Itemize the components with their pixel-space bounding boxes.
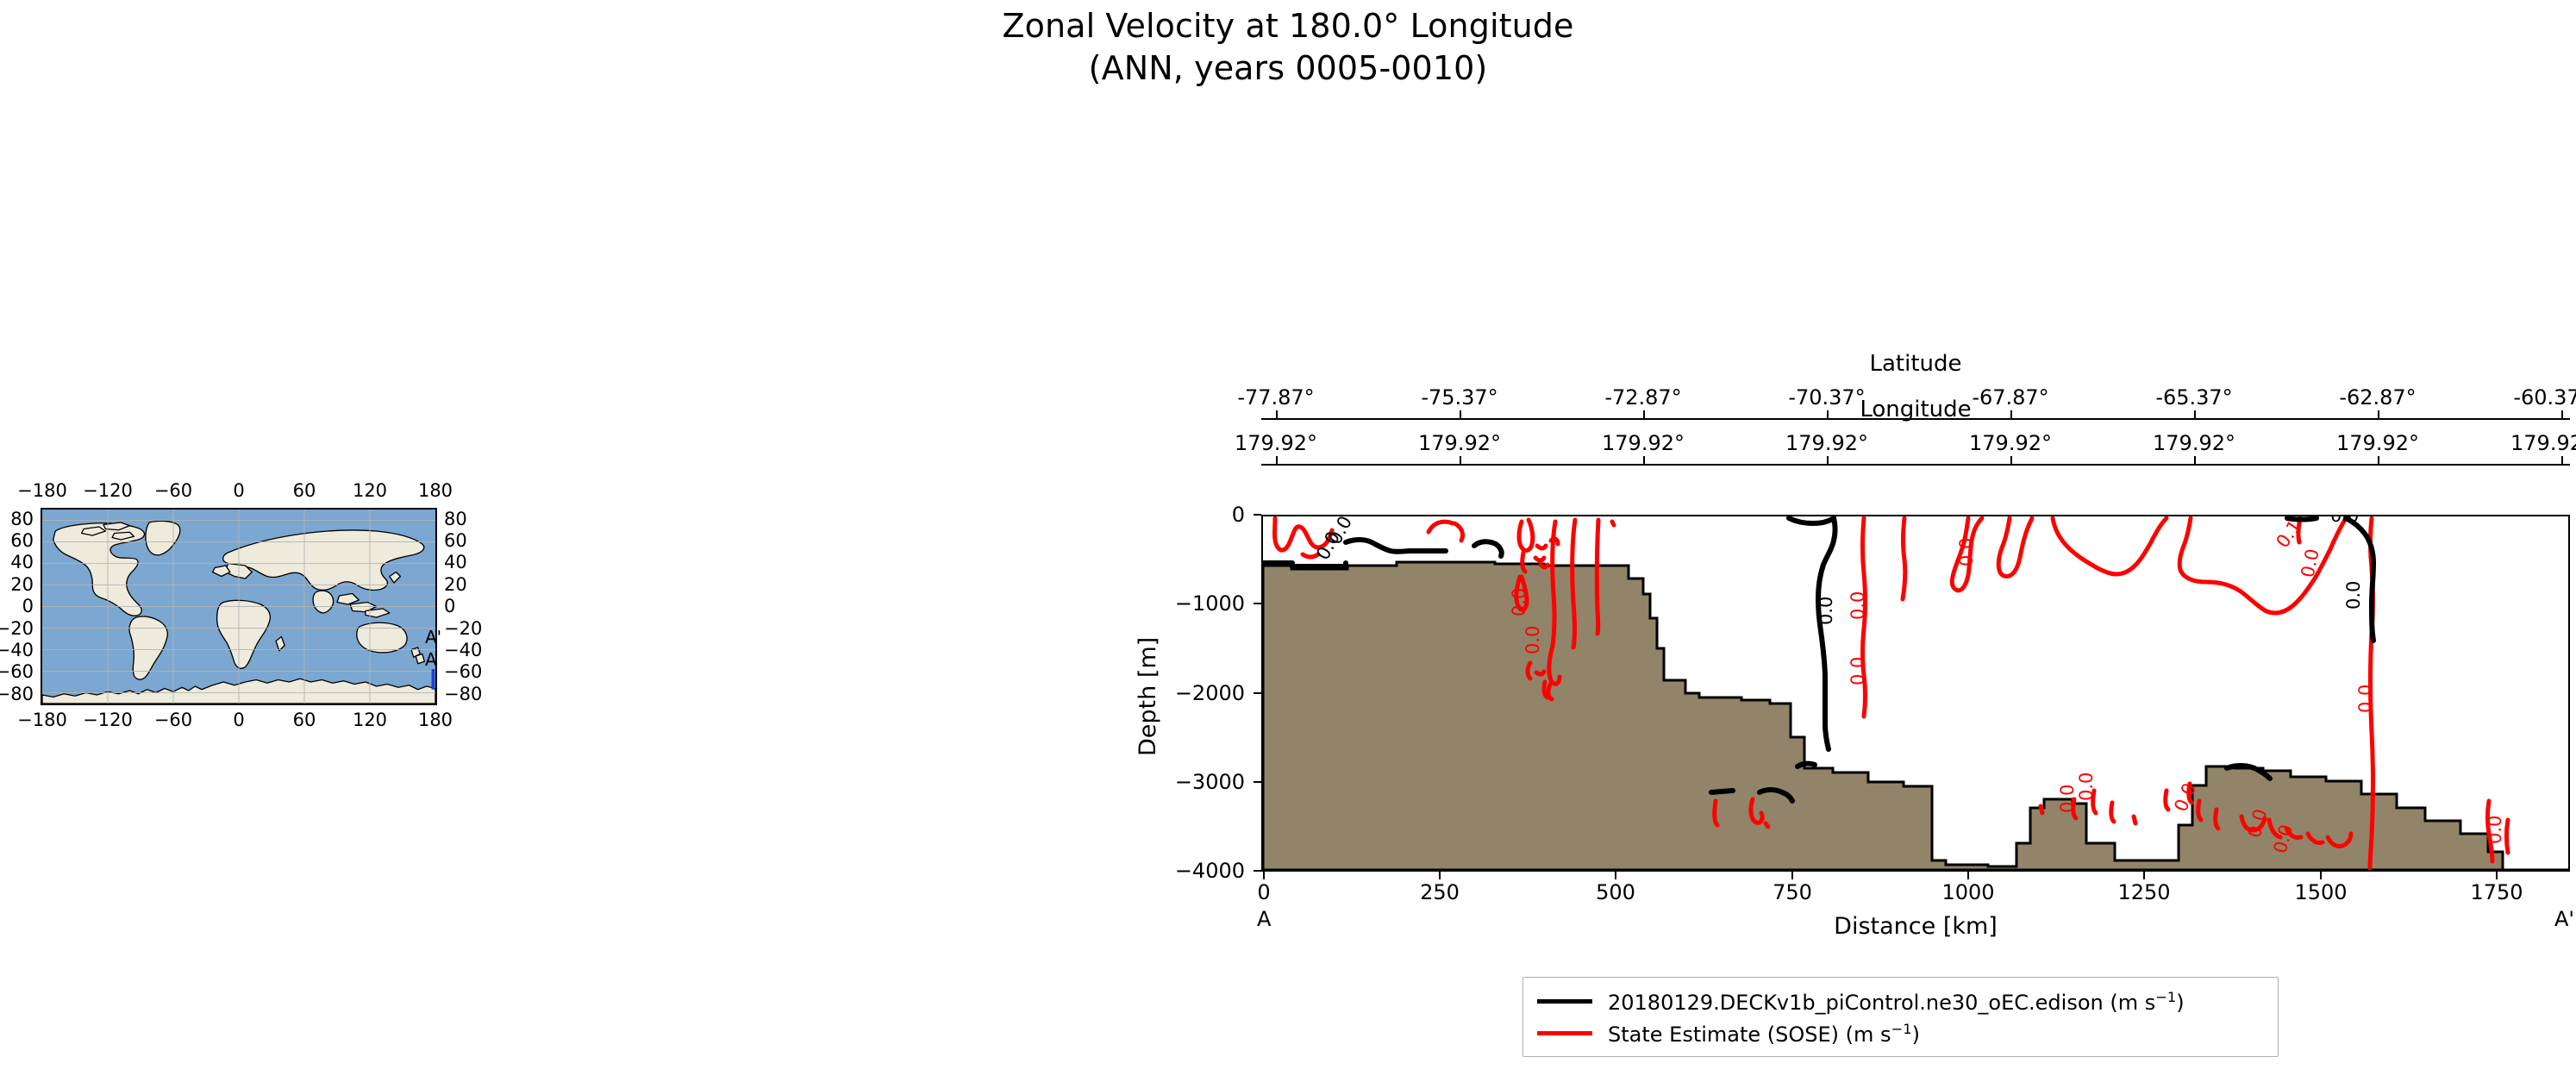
lat-tick-4 [2010,410,2012,418]
distance-tick-label-1: 250 [1420,880,1460,904]
depth-tick-0 [1254,514,1261,516]
obs-contour-label-13: 0.0 [2485,816,2505,844]
lat-tick-7 [2561,410,2563,418]
xsec-endpoint-a-prime: A' [2554,907,2574,931]
map-lat-tick-l2: 40 [10,552,34,572]
legend: 20180129.DECKv1b_piControl.ne30_oEC.edis… [1522,977,2279,1057]
legend-label-model-exp: −1 [2155,989,2176,1005]
lat-tick-label-0: -77.87° [1237,385,1314,410]
map-endpoint-a-prime: A' [425,627,441,647]
lat-tick-0 [1276,410,1278,418]
map-lat-tick-l0: 80 [10,509,34,529]
distance-tick-4 [1967,872,1969,879]
map-lon-tick-b4: 60 [293,710,316,730]
lat-tick-label-7: -60.37° [2513,385,2576,410]
map-lon-tick-b6: 180 [418,710,453,730]
legend-label-obs-exp: −1 [1891,1021,1912,1037]
depth-tick-label-0: 0 [1232,503,1245,527]
lon-tick-3 [1827,456,1829,464]
map-lat-tick-r8: −80 [444,684,482,704]
map-lat-tick-r7: −60 [444,661,482,682]
lon-tick-label-4: 179.92° [1969,431,2052,455]
lat-tick-label-1: -75.37° [1421,385,1497,410]
map-lon-tick-1: −120 [83,480,133,501]
map-lat-tick-r6: −40 [444,640,482,660]
obs-contour-label-1: 0.0 [1522,626,1543,654]
legend-line-swatch-obs [1537,1031,1592,1035]
model-contour-label-2: 0.0 [1816,597,1836,625]
distance-tick-label-4: 1000 [1941,880,1994,904]
obs-contour-label-4: 0.0 [1956,538,1977,566]
legend-label-obs-tail: ) [1912,1023,1920,1047]
lat-tick-5 [2194,410,2196,418]
title-line-2: (ANN, years 0005-0010) [0,47,2576,90]
obs-contour-label-10: 0.0 [2076,772,2097,801]
map-lon-tick-2: −60 [154,480,192,501]
distance-tick-5 [2143,872,2145,879]
lon-tick-label-2: 179.92° [1602,431,1685,455]
map-lon-tick-b0: −180 [17,710,67,730]
lon-tick-label-5: 179.92° [2153,431,2235,455]
map-lon-tick-6: 180 [418,480,453,501]
australia [357,622,407,653]
lat-tick-label-6: -62.87° [2339,385,2416,410]
lat-tick-label-3: -70.37° [1788,385,1865,410]
world-map-graphic [42,510,435,704]
map-lon-tick-0: −180 [17,480,67,501]
map-lat-tick-l7: −60 [0,661,34,682]
cross-section-axes[interactable]: 0.0 0.0 0.0 0.0 0.0 0.0 0.0 0.0 0.0 0.0 … [1261,515,2570,872]
distance-tick-0 [1263,872,1265,879]
depth-tick-label-3: −3000 [1175,770,1245,794]
longitude-axis-line [1261,464,2570,466]
legend-line-swatch-model [1537,999,1592,1004]
distance-tick-label-2: 500 [1596,880,1635,904]
world-map-panel: −180 −120 −60 0 60 120 180 −180 −120 −60… [41,508,437,705]
lon-tick-4 [2010,456,2012,464]
lat-tick-label-5: -65.37° [2155,385,2232,410]
distance-tick-3 [1791,872,1793,879]
map-lon-tick-4: 60 [293,480,316,501]
depth-tick-label-4: −4000 [1175,859,1245,883]
obs-contour-label-7: 0.0 [2355,685,2376,713]
lat-tick-1 [1460,410,1461,418]
depth-axis-title: Depth [m] [1135,637,1161,756]
legend-label-obs-text: State Estimate (SOSE) (m s [1608,1023,1891,1047]
map-lon-tick-3: 0 [233,480,244,501]
distance-tick-label-3: 750 [1773,880,1812,904]
lon-tick-6 [2378,456,2379,464]
lon-tick-label-1: 179.92° [1418,431,1501,455]
lat-tick-3 [1827,410,1829,418]
legend-entry-model[interactable]: 20180129.DECKv1b_piControl.ne30_oEC.edis… [1537,985,2264,1017]
cross-section-panel: 0.0 0.0 0.0 0.0 0.0 0.0 0.0 0.0 0.0 0.0 … [1261,515,2570,872]
distance-tick-label-5: 1250 [2117,880,2170,904]
distance-tick-7 [2496,872,2498,879]
legend-label-model-tail: ) [2176,991,2184,1015]
obs-contour-label-2: 0.0 [1848,591,1868,620]
lon-tick-5 [2194,456,2196,464]
distance-tick-2 [1615,872,1616,879]
figure-title: Zonal Velocity at 180.0° Longitude (ANN,… [0,5,2576,91]
legend-label-model-text: 20180129.DECKv1b_piControl.ne30_oEC.edis… [1608,991,2155,1015]
map-lon-tick-b3: 0 [233,710,244,730]
legend-label-model: 20180129.DECKv1b_piControl.ne30_oEC.edis… [1608,989,2185,1015]
depth-tick-label-1: −1000 [1175,591,1245,616]
lon-tick-label-6: 179.92° [2336,431,2419,455]
lon-tick-label-7: 179.92° [2510,431,2576,455]
map-lat-tick-l1: 60 [10,530,34,551]
map-lat-tick-r4: 0 [444,596,455,616]
legend-label-obs: State Estimate (SOSE) (m s−1) [1608,1021,1920,1047]
lon-tick-7 [2561,456,2563,464]
distance-tick-6 [2320,872,2322,879]
depth-tick-3 [1254,781,1261,783]
lat-tick-label-4: -67.87° [1972,385,2048,410]
latitude-axis-title: Latitude [1869,351,1961,377]
longitude-axis-title: Longitude [1860,397,1971,422]
map-lat-tick-l5: −20 [0,618,34,639]
lon-tick-label-3: 179.92° [1785,431,1868,455]
lat-tick-6 [2378,410,2379,418]
model-contour-label-4: 0.0 [2330,516,2359,526]
distance-tick-label-7: 1750 [2470,880,2523,904]
obs-contour-label-3: 0.0 [1848,657,1868,685]
lon-tick-label-0: 179.92° [1235,431,1317,455]
obs-contour-label-0: 0.0 [1509,588,1529,616]
map-lat-tick-l6: −40 [0,640,34,660]
map-lat-tick-l3: 20 [10,574,34,595]
distance-tick-label-6: 1500 [2294,880,2347,904]
legend-entry-obs[interactable]: State Estimate (SOSE) (m s−1) [1537,1017,2264,1049]
map-lat-tick-r0: 80 [444,509,467,529]
title-line-1: Zonal Velocity at 180.0° Longitude [0,5,2576,47]
map-lon-tick-b1: −120 [83,710,133,730]
map-lat-tick-r1: 60 [444,530,467,551]
depth-tick-2 [1254,692,1261,694]
distance-tick-1 [1439,872,1441,879]
depth-tick-4 [1254,870,1261,872]
depth-tick-1 [1254,603,1261,604]
model-contour-label-3: 0.0 [2343,581,2364,610]
map-lat-tick-l8: −80 [0,684,34,704]
xsec-endpoint-a: A [1257,907,1271,931]
distance-tick-label-0: 0 [1257,880,1270,904]
map-lon-tick-5: 120 [353,480,387,501]
lat-tick-2 [1643,410,1645,418]
depth-tick-label-2: −2000 [1175,681,1245,705]
world-map-axes[interactable] [41,508,437,705]
india [313,591,333,613]
map-lat-tick-r3: 20 [444,574,467,595]
lon-tick-0 [1276,456,1278,464]
distance-axis-title: Distance [km] [1834,913,1998,940]
map-lat-tick-r5: −20 [444,618,482,639]
new-zealand-s [416,654,424,664]
lon-tick-1 [1460,456,1461,464]
map-lon-tick-b5: 120 [353,710,387,730]
map-lat-tick-l4: 0 [22,596,34,616]
lat-tick-label-2: -72.87° [1604,385,1681,410]
obs-contour-label-9: 0.0 [2057,785,2078,813]
map-lat-tick-r2: 40 [444,552,467,572]
lon-tick-2 [1643,456,1645,464]
map-endpoint-a: A [425,649,437,670]
cross-section-graphic: 0.0 0.0 0.0 0.0 0.0 0.0 0.0 0.0 0.0 0.0 … [1263,516,2568,870]
map-lon-tick-b2: −60 [154,710,192,730]
